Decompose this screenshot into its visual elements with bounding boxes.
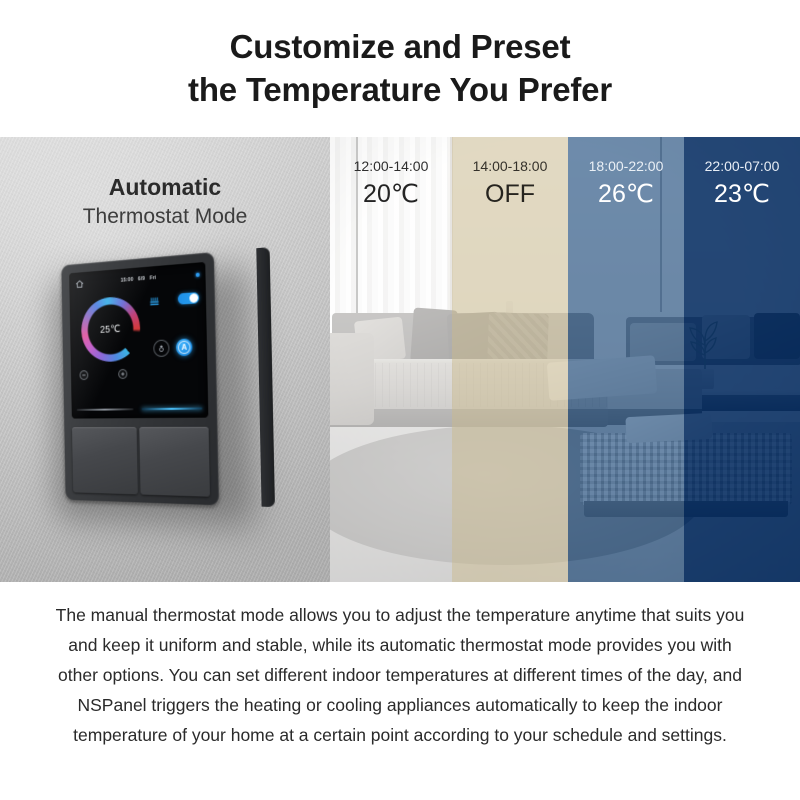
device-showcase-heading: Automatic Thermostat Mode	[0, 173, 330, 231]
home-icon[interactable]	[74, 278, 84, 289]
slot-2-time: 14:00-18:00	[452, 157, 568, 176]
page-headline: Customize and Preset the Temperature You…	[0, 0, 800, 137]
schedule-slot-3: 18:00-22:00 26℃	[568, 137, 684, 582]
schedule-slot-2: 14:00-18:00 OFF	[452, 137, 568, 582]
temperature-decrease-button[interactable]	[80, 370, 89, 380]
slot-1-time: 12:00-14:00	[330, 157, 452, 176]
schedule-columns: 12:00-14:00 20℃ 14:00-18:00 OFF 18:00-22…	[330, 137, 800, 582]
current-temperature-value: 25℃	[81, 295, 141, 363]
hero-image-band: Automatic Thermostat Mode	[0, 137, 800, 582]
schedule-slot-4: 22:00-07:00 23℃	[684, 137, 800, 582]
heating-element-icon	[149, 294, 160, 306]
description-paragraph: The manual thermostat mode allows you to…	[50, 600, 750, 750]
power-toggle[interactable]	[178, 292, 199, 305]
indicator-bar-right	[142, 407, 203, 409]
auto-mode-button[interactable]: A	[176, 338, 193, 356]
status-datetime: 15:00 6/9 Fri	[84, 271, 196, 286]
mode-subtitle: Thermostat Mode	[0, 203, 330, 231]
device-showcase-panel: Automatic Thermostat Mode	[0, 137, 330, 582]
schedule-scene-panel: 12:00-14:00 20℃ 14:00-18:00 OFF 18:00-22…	[330, 137, 800, 582]
slot-3-time: 18:00-22:00	[568, 157, 684, 176]
nspanel-device: 15:00 6/9 Fri 25℃	[61, 248, 263, 521]
indicator-bar-left	[77, 408, 134, 410]
slot-1-labels: 12:00-14:00 20℃	[330, 137, 452, 210]
slot-3-value: 26℃	[568, 178, 684, 211]
device-touchscreen[interactable]: 15:00 6/9 Fri 25℃	[69, 262, 208, 419]
slot-4-value: 23℃	[684, 178, 800, 211]
slot-3-labels: 18:00-22:00 26℃	[568, 137, 684, 210]
device-body: 15:00 6/9 Fri 25℃	[61, 252, 219, 505]
slot-2-labels: 14:00-18:00 OFF	[452, 137, 568, 210]
slot-1-value: 20℃	[330, 178, 452, 211]
auto-mode-ring	[178, 340, 191, 354]
headline-line-1: Customize and Preset	[230, 26, 571, 69]
physical-button-row	[72, 427, 210, 497]
status-weekday: Fri	[150, 275, 157, 281]
mode-title: Automatic	[0, 173, 330, 203]
description-section: The manual thermostat mode allows you to…	[0, 582, 800, 800]
thermostat-dial-area[interactable]: 25℃	[73, 289, 150, 390]
schedule-slot-1: 12:00-14:00 20℃	[330, 137, 452, 582]
headline-line-2: the Temperature You Prefer	[188, 69, 612, 112]
product-feature-page: Customize and Preset the Temperature You…	[0, 0, 800, 800]
status-date: 6/9	[138, 275, 145, 281]
slot-4-labels: 22:00-07:00 23℃	[684, 137, 800, 210]
screen-status-bar: 15:00 6/9 Fri	[74, 268, 199, 291]
slot-4-time: 22:00-07:00	[684, 157, 800, 176]
status-time: 15:00	[121, 276, 134, 283]
temperature-increase-button[interactable]	[118, 369, 127, 379]
toggle-knob	[189, 293, 198, 303]
auto-mode-label: A	[181, 343, 187, 352]
screen-indicator-bars	[77, 407, 203, 411]
slot-2-value: OFF	[452, 178, 568, 211]
status-dot-icon	[196, 272, 200, 276]
physical-button-left[interactable]	[72, 427, 138, 494]
